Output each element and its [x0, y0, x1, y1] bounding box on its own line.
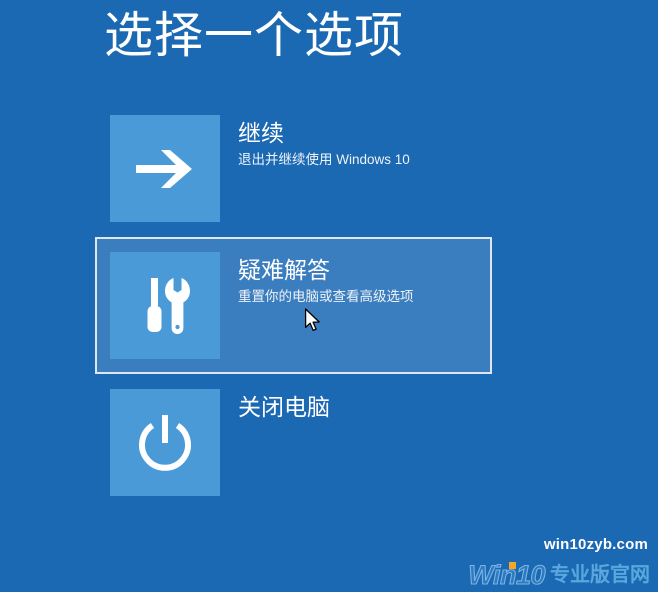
- option-troubleshoot-tile: [110, 252, 220, 359]
- option-troubleshoot-text: 疑难解答 重置你的电脑或查看高级选项: [220, 252, 414, 306]
- watermark-logo: Win10 专业版官网: [468, 560, 650, 590]
- recovery-screen: 选择一个选项 继续 退出并继续使用 Windows 10: [0, 0, 658, 592]
- watermark-logo-word: Win10: [468, 560, 545, 590]
- option-turn-off-pc-text: 关闭电脑: [220, 389, 330, 422]
- option-continue-title: 继续: [238, 119, 410, 148]
- watermark-logo-cn: 专业版官网: [550, 560, 650, 590]
- page-title: 选择一个选项: [104, 2, 404, 70]
- option-troubleshoot[interactable]: 疑难解答 重置你的电脑或查看高级选项: [95, 237, 492, 374]
- option-continue-tile: [110, 115, 220, 222]
- option-continue[interactable]: 继续 退出并继续使用 Windows 10: [95, 100, 492, 237]
- watermark-url: win10zyb.com: [544, 536, 648, 553]
- option-troubleshoot-title: 疑难解答: [238, 256, 414, 285]
- options-list: 继续 退出并继续使用 Windows 10: [95, 100, 495, 511]
- option-turn-off-pc-title: 关闭电脑: [238, 393, 330, 422]
- option-troubleshoot-subtitle: 重置你的电脑或查看高级选项: [238, 287, 414, 306]
- arrow-right-icon: [134, 144, 196, 194]
- power-icon: [134, 412, 196, 474]
- watermark-logo-dot: [509, 562, 516, 569]
- screwdriver-wrench-icon: [137, 276, 193, 336]
- option-continue-text: 继续 退出并继续使用 Windows 10: [220, 115, 410, 169]
- option-continue-subtitle: 退出并继续使用 Windows 10: [238, 150, 410, 169]
- option-turn-off-pc-tile: [110, 389, 220, 496]
- option-turn-off-pc[interactable]: 关闭电脑: [95, 374, 492, 511]
